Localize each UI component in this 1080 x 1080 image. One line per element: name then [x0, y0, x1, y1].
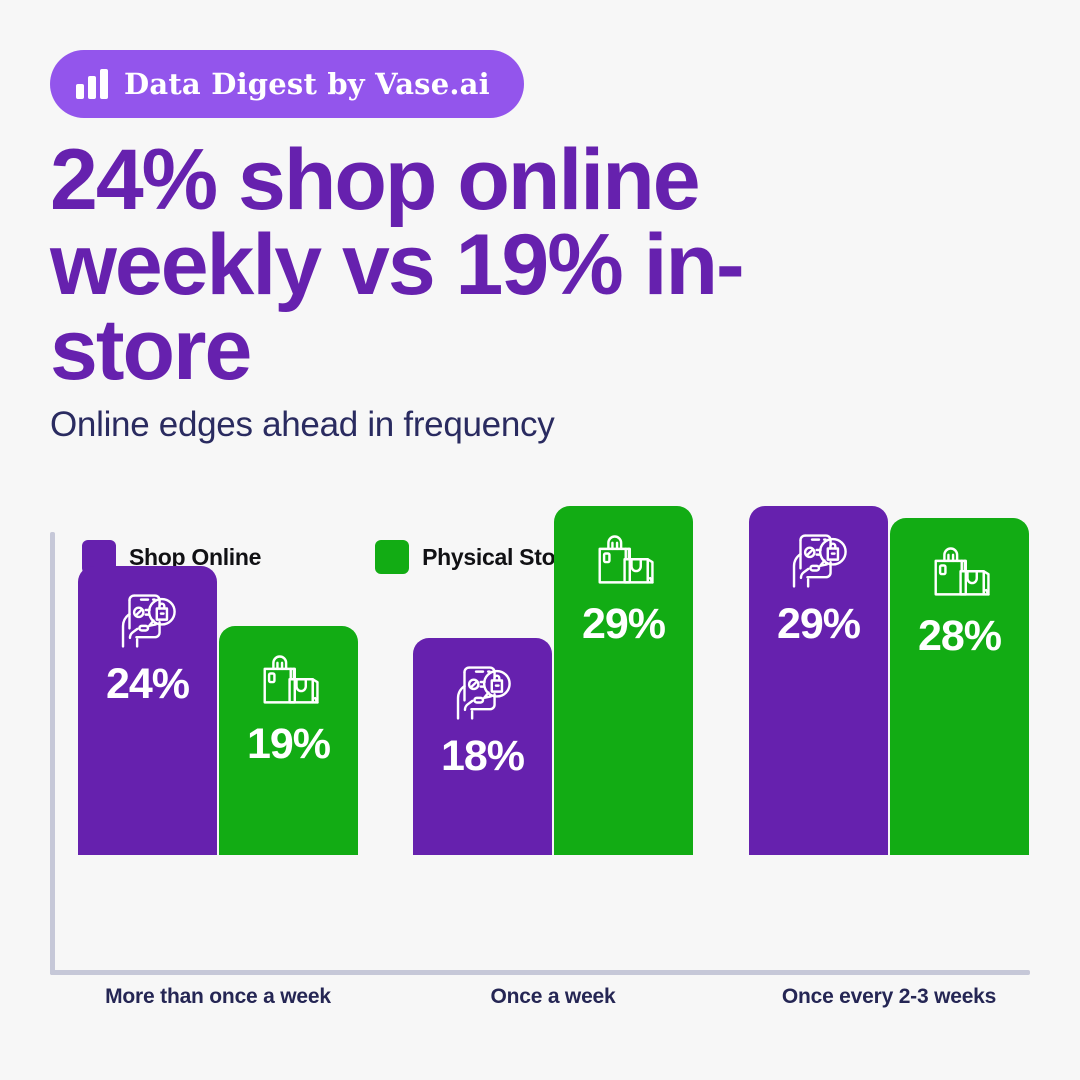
badge-label: Data Digest by Vase.ai	[124, 67, 490, 101]
bar-value-label: 29%	[582, 600, 665, 649]
page-subtitle: Online edges ahead in frequency	[50, 405, 554, 445]
bar-value-label: 29%	[777, 600, 860, 649]
category-label: Once a week	[383, 976, 723, 1010]
bar-shop-online[interactable]: 24%	[78, 566, 217, 855]
category-label: More than once a week	[48, 976, 388, 1010]
mobile-shopping-icon	[446, 656, 520, 730]
bar-physical-stores[interactable]: 19%	[219, 626, 358, 855]
shopping-bags-icon	[923, 536, 997, 610]
bar-group: 24% 19%	[78, 470, 358, 855]
bar-value-label: 24%	[106, 660, 189, 709]
bar-physical-stores[interactable]: 28%	[890, 518, 1029, 855]
x-axis-line	[50, 970, 1030, 975]
bar-physical-stores[interactable]: 29%	[554, 506, 693, 855]
bar-shop-online[interactable]: 29%	[749, 506, 888, 855]
chart-category-labels: More than once a weekOnce a weekOnce eve…	[55, 976, 1030, 1032]
bar-group: 29% 28%	[749, 470, 1029, 855]
page-title: 24% shop online weekly vs 19% in-store	[50, 138, 870, 393]
bar-value-label: 19%	[247, 720, 330, 769]
chart-plot-area: 24% 19% 18% 29%	[55, 470, 1035, 855]
category-label: Once every 2-3 weeks	[719, 976, 1059, 1010]
shopping-bags-icon	[252, 644, 326, 718]
bar-value-label: 28%	[918, 612, 1001, 661]
bar-chart-icon	[76, 69, 108, 99]
mobile-shopping-icon	[111, 584, 185, 658]
bar-value-label: 18%	[441, 732, 524, 781]
data-digest-badge: Data Digest by Vase.ai	[50, 50, 524, 118]
mobile-shopping-icon	[782, 524, 856, 598]
shopping-bags-icon	[587, 524, 661, 598]
bar-group: 18% 29%	[413, 470, 693, 855]
bar-chart: Shop Online Physical Stores 24% 19%	[50, 532, 1030, 1032]
bar-shop-online[interactable]: 18%	[413, 638, 552, 855]
